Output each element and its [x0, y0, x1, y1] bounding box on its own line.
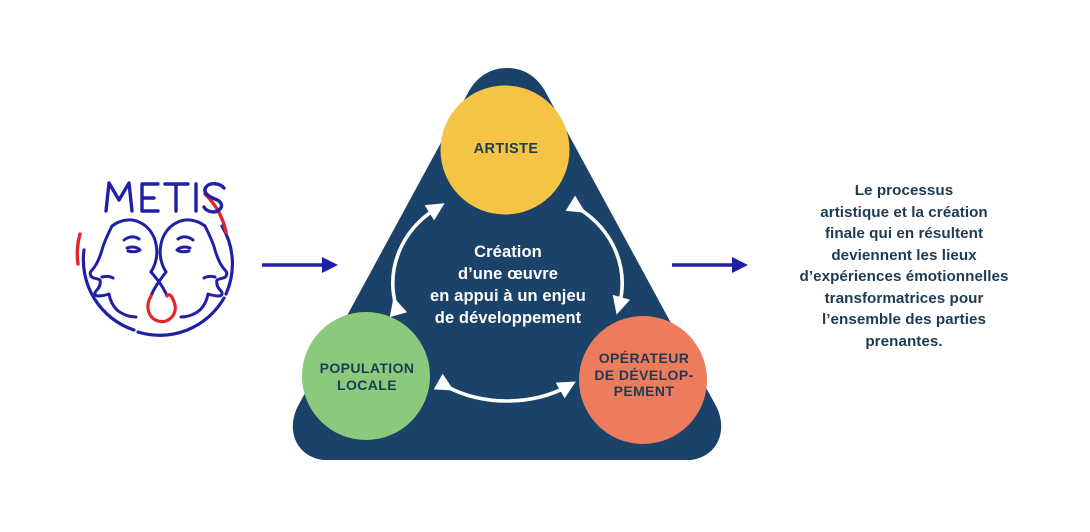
metis-logo[interactable] — [72, 178, 262, 343]
outcome-line-1: Le processus — [760, 180, 1048, 202]
diagram-canvas: ARTISTE POPULATION LOCALE OPÉRATEUR DE D… — [0, 0, 1090, 532]
node-circle-operateur — [579, 316, 707, 444]
node-circle-population — [302, 312, 430, 440]
metis-right-face — [160, 220, 227, 317]
triangle-diagram — [276, 56, 738, 476]
outcome-line-2: artistique et la création — [760, 202, 1048, 224]
outcome-line-4: deviennent les lieux — [760, 245, 1048, 267]
outcome-text-block: Le processus artistique et la création f… — [760, 180, 1048, 353]
outcome-line-3: finale qui en résultent — [760, 223, 1048, 245]
node-circle-artiste — [441, 86, 570, 215]
outcome-line-6: transformatrices pour — [760, 288, 1048, 310]
metis-infinity-loop — [148, 272, 175, 322]
outcome-line-7: l’ensemble des parties — [760, 309, 1048, 331]
flow-arrow-diagram-to-outcome — [672, 253, 748, 277]
outcome-line-8: prenantes. — [760, 331, 1048, 353]
outcome-line-5: d’expériences émotionnelles — [760, 266, 1048, 288]
